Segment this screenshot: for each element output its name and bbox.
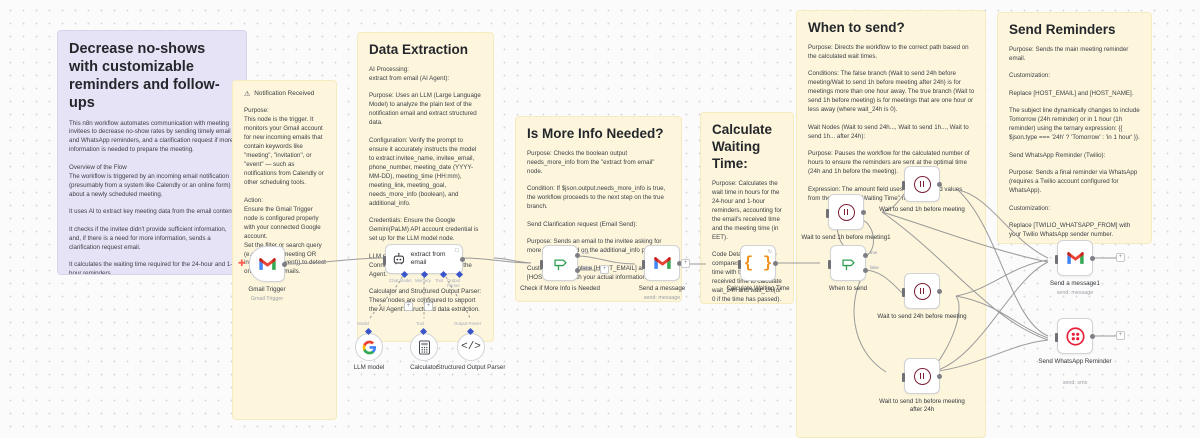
- output-parser-label: Output Parser: [447, 278, 463, 288]
- output-port[interactable]: [1090, 334, 1095, 339]
- memory-label: Memory: [415, 278, 431, 283]
- output-port[interactable]: [460, 257, 465, 262]
- node-body[interactable]: [904, 273, 940, 309]
- workflow-canvas[interactable]: Decrease no-shows with customizable remi…: [0, 0, 1200, 438]
- note-paragraph: Purpose: Directs the workflow to the cor…: [808, 44, 975, 62]
- true-output-port[interactable]: [575, 253, 580, 258]
- gmail-icon: [1066, 251, 1085, 265]
- node-label: Wait to send 1h before meeting: [876, 206, 968, 214]
- note-title: Calculate Waiting Time:: [712, 122, 783, 173]
- node-label: Wait to send 1h before meeting after 24h: [874, 398, 970, 414]
- note-paragraph: Purpose: Calculates the wait time in hou…: [712, 180, 783, 243]
- note-paragraph: Send WhatsApp Reminder (Twilio):: [1009, 152, 1141, 161]
- note-title: Send Reminders: [1009, 22, 1141, 39]
- node-send-a-message1[interactable]: Send a message1 send: message: [1057, 240, 1093, 276]
- note-header-row: ⚠ Notification Received: [244, 90, 326, 99]
- gmail-icon: [258, 257, 277, 271]
- false-port-label: false: [870, 265, 879, 270]
- output-port[interactable]: [937, 289, 942, 294]
- note-paragraph: AI Processing: extract from email (AI Ag…: [369, 66, 483, 84]
- note-paragraph: Customization:: [1009, 72, 1141, 81]
- node-label: Send WhatsApp Reminder: [1035, 358, 1115, 366]
- gmail-icon: [653, 256, 672, 270]
- if-switch-icon: [840, 256, 857, 271]
- node-label: Send a message1: [1033, 280, 1117, 288]
- input-port[interactable]: [828, 260, 831, 269]
- node-send-a-message[interactable]: Send a message send: message: [644, 245, 680, 281]
- note-header-label: Notification Received: [254, 90, 314, 98]
- node-wait-1h-before-meeting[interactable]: Wait to send 1h before meeting: [904, 166, 940, 202]
- note-paragraph: Replace [TWILIO_WHATSAPP_FROM] with your…: [1009, 222, 1141, 240]
- node-body[interactable]: </>: [457, 333, 485, 361]
- note-paragraph: This n8n workflow automates communicatio…: [69, 120, 236, 156]
- node-label: Calculate Waiting Time: [716, 285, 800, 293]
- note-paragraph: Purpose: Sends a final reminder via What…: [1009, 169, 1141, 196]
- node-extract-from-email[interactable]: extract from email ☐ Chat Model Memory T…: [385, 244, 463, 274]
- note-paragraph: Customization:: [1009, 205, 1141, 214]
- google-gemini-icon: [362, 340, 377, 355]
- note-title: Decrease no-shows with customizable remi…: [69, 40, 236, 113]
- node-body[interactable]: [828, 194, 864, 230]
- node-body[interactable]: [355, 333, 383, 361]
- code-brackets-icon: </>: [461, 341, 481, 353]
- output-port[interactable]: [861, 210, 866, 215]
- add-node-button[interactable]: +: [1116, 331, 1125, 340]
- note-title: Is More Info Needed?: [527, 126, 671, 143]
- node-sublabel: send: message: [1033, 290, 1117, 296]
- note-paragraph: Purpose: Sends the main meeting reminder…: [1009, 46, 1141, 64]
- note-title: Data Extraction: [369, 42, 483, 59]
- input-port[interactable]: [902, 288, 905, 297]
- node-structured-output-parser[interactable]: Output Parser </> Structured Output Pars…: [457, 333, 485, 361]
- true-port-label: true: [582, 250, 589, 255]
- true-output-port[interactable]: [863, 253, 868, 258]
- add-node-button[interactable]: +: [1116, 253, 1125, 262]
- node-body[interactable]: [1057, 318, 1093, 354]
- false-output-port[interactable]: [575, 268, 580, 273]
- node-calculator[interactable]: Tool Calculator: [410, 333, 438, 361]
- node-label: Wait to send 1h before meeting1: [800, 234, 892, 242]
- node-label: Check if More Info is Needed: [518, 285, 602, 293]
- chat-model-label: Chat Model: [389, 278, 411, 283]
- input-port[interactable]: [902, 181, 905, 190]
- node-calculate-waiting-time[interactable]: { } ↻ Calculate Waiting Time: [740, 245, 776, 281]
- input-port[interactable]: [642, 260, 645, 269]
- node-body[interactable]: [542, 245, 578, 281]
- add-node-button[interactable]: +: [681, 259, 690, 268]
- note-paragraph: Purpose: This node is the trigger. It mo…: [244, 107, 326, 188]
- add-node-button[interactable]: +: [600, 265, 609, 274]
- node-check-if-more-info-is-needed[interactable]: true false Check if More Info is Needed: [542, 245, 578, 281]
- false-port-label: false: [582, 265, 591, 270]
- note-paragraph: Purpose: Checks the boolean output needs…: [527, 150, 671, 177]
- node-body[interactable]: [830, 245, 866, 281]
- refresh-icon: ↻: [768, 249, 772, 255]
- wait-pause-icon: [914, 283, 931, 300]
- output-port[interactable]: [937, 182, 942, 187]
- sticky-note-overview[interactable]: Decrease no-shows with customizable remi…: [57, 30, 247, 275]
- note-paragraph: Wait Nodes (Wait to send 24h..., Wait to…: [808, 124, 975, 142]
- note-paragraph: It checks if the invitee didn't provide …: [69, 226, 236, 253]
- false-output-port[interactable]: [863, 268, 868, 273]
- note-paragraph: Configuration: Verify the prompt to ensu…: [369, 137, 483, 209]
- wait-pause-icon: [838, 204, 855, 221]
- note-paragraph: Purpose: Pauses the workflow for the cal…: [808, 150, 975, 177]
- input-port[interactable]: [902, 373, 905, 382]
- output-port[interactable]: [1090, 256, 1095, 261]
- note-paragraph: Conditions: The false branch (Wait to se…: [808, 70, 975, 115]
- note-paragraph: Purpose: Uses an LLM (Large Language Mod…: [369, 92, 483, 128]
- input-port[interactable]: [540, 260, 543, 269]
- true-port-label: true: [870, 250, 877, 255]
- note-paragraph: It calculates the waiting time required …: [69, 261, 236, 275]
- add-tool-button[interactable]: +: [424, 302, 433, 311]
- calculator-icon: [418, 340, 431, 355]
- node-when-to-send[interactable]: true false When to send: [830, 245, 866, 281]
- note-paragraph: It uses AI to extract key meeting data f…: [69, 208, 236, 217]
- node-sublabel: send: message: [620, 295, 704, 301]
- note-paragraph: Condition: If $json.output.needs_more_in…: [527, 185, 671, 212]
- wait-pause-icon: [914, 368, 931, 385]
- node-label: Wait to send 24h before meeting: [876, 313, 968, 321]
- note-paragraph: Credentials: Ensure the Google Gemini(Pa…: [369, 217, 483, 244]
- note-title: When to send?: [808, 20, 975, 37]
- trigger-bolt-icon: ✚: [238, 258, 246, 269]
- node-wait-24h-before-meeting[interactable]: Wait to send 24h before meeting: [904, 273, 940, 309]
- calculator-connector-label: Tool: [416, 321, 424, 326]
- note-paragraph: Send Clarification request (Email Send):: [527, 221, 671, 230]
- wait-pause-icon: [914, 176, 931, 193]
- node-label: Structured Output Parser: [435, 364, 507, 372]
- node-label: When to send: [806, 285, 890, 293]
- node-label: Send a message: [620, 285, 704, 293]
- twilio-icon: [1066, 327, 1085, 346]
- input-port[interactable]: [738, 260, 741, 269]
- node-label: Gmail Trigger: [225, 286, 309, 294]
- output-port[interactable]: [282, 262, 287, 267]
- sticky-note-data-extraction[interactable]: Data Extraction AI Processing: extract f…: [357, 32, 494, 342]
- sticky-note-send-reminders[interactable]: Send Reminders Purpose: Sends the main m…: [997, 12, 1152, 244]
- llm-connector-label: Model: [357, 321, 369, 326]
- input-port[interactable]: [1055, 333, 1058, 342]
- expand-icon[interactable]: ☐: [455, 248, 459, 254]
- input-port[interactable]: [383, 256, 386, 265]
- warning-icon: ⚠: [244, 90, 250, 99]
- node-gmail-trigger[interactable]: ✚ Gmail Trigger Gmail Trigger: [249, 246, 285, 282]
- if-switch-icon: [552, 256, 569, 271]
- node-body[interactable]: [904, 358, 940, 394]
- sticky-note-when-to-send[interactable]: When to send? Purpose: Directs the workf…: [796, 10, 986, 438]
- input-port[interactable]: [826, 209, 829, 218]
- node-body[interactable]: [904, 166, 940, 202]
- input-port[interactable]: [1055, 255, 1058, 264]
- note-paragraph: The subject line dynamically changes to …: [1009, 107, 1141, 143]
- code-node-icon: { }: [744, 254, 773, 272]
- node-wait-1h-before-meeting-after-24h[interactable]: Wait to send 1h before meeting after 24h: [904, 358, 940, 394]
- output-port[interactable]: [937, 374, 942, 379]
- node-llm-model[interactable]: Model LLM model: [355, 333, 383, 361]
- note-paragraph: Overview of the Flow The workflow is tri…: [69, 164, 236, 200]
- node-sublabel: send: sms: [1033, 380, 1117, 386]
- node-body[interactable]: { } ↻: [740, 245, 776, 281]
- parser-connector-label: Output Parser: [454, 321, 481, 326]
- node-sublabel: Gmail Trigger: [225, 296, 309, 302]
- add-memory-button[interactable]: +: [404, 302, 413, 311]
- node-body[interactable]: [1057, 240, 1093, 276]
- note-paragraph: Replace [HOST_EMAIL] and [HOST_NAME].: [1009, 90, 1141, 99]
- node-wait-1h-before-meeting1[interactable]: Wait to send 1h before meeting1: [828, 194, 864, 230]
- tool-label: Tool: [435, 278, 443, 283]
- ai-agent-icon: [392, 252, 406, 266]
- output-port[interactable]: [773, 261, 778, 266]
- node-send-whatsapp-reminder[interactable]: Send WhatsApp Reminder send: sms: [1057, 318, 1093, 354]
- node-body[interactable]: [249, 246, 285, 282]
- node-body[interactable]: [410, 333, 438, 361]
- node-body[interactable]: [644, 245, 680, 281]
